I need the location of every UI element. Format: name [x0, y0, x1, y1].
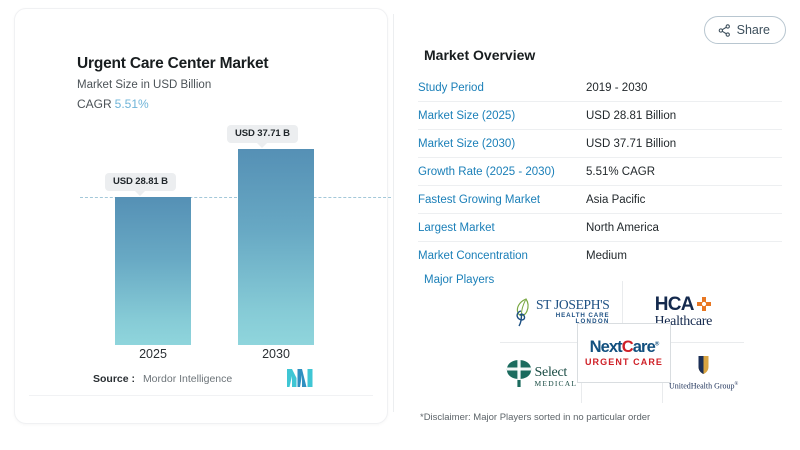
share-label: Share: [737, 23, 770, 37]
logo-cell-select-medical: Select MEDICAL: [500, 342, 581, 403]
unitedhealth-group-logo: UnitedHealth Group®: [669, 355, 738, 391]
cagr-label: CAGR: [77, 97, 112, 111]
nextcare-logo: NextCare® URGENT CARE: [585, 339, 663, 367]
major-players-logo-grid: ST JOSEPH'S HEALTH CARE LONDON HCA: [500, 281, 744, 403]
unitedhealth-name: UnitedHealth Group®: [669, 382, 738, 391]
bar-2030: [238, 149, 314, 345]
nextcare-sub: URGENT CARE: [585, 358, 663, 367]
x-tick-2025: 2025: [108, 347, 198, 361]
source-divider: [29, 395, 373, 396]
chart-subtitle: Market Size in USD Billion: [77, 79, 211, 91]
overview-table: Study Period 2019 - 2030 Market Size (20…: [418, 74, 782, 269]
source-line: Source : Mordor Intelligence: [93, 373, 232, 385]
select-medical-sub: MEDICAL: [535, 380, 578, 388]
overview-title: Market Overview: [424, 47, 535, 63]
x-tick-2030: 2030: [231, 347, 321, 361]
logo-cell-nextcare: NextCare® URGENT CARE: [577, 323, 671, 383]
row-value: 5.51% CAGR: [586, 166, 655, 178]
source-label: Source :: [93, 373, 135, 385]
select-medical-tree-icon: [504, 358, 534, 388]
table-row: Study Period 2019 - 2030: [418, 74, 782, 102]
bar-label-2025: USD 28.81 B: [105, 173, 176, 191]
bar-2025: [115, 197, 191, 345]
nextcare-name: NextCare®: [585, 339, 663, 356]
row-label: Market Size (2030): [418, 138, 586, 150]
share-icon: [718, 24, 731, 37]
chart-title: Urgent Care Center Market: [77, 55, 268, 73]
cagr-value: 5.51%: [115, 97, 149, 111]
logo-cell-unitedhealth: UnitedHealth Group®: [662, 342, 744, 403]
select-medical-name: Select: [535, 366, 578, 380]
bar-label-2030: USD 37.71 B: [227, 125, 298, 143]
row-value: Asia Pacific: [586, 194, 645, 206]
table-row: Market Size (2025) USD 28.81 Billion: [418, 102, 782, 130]
table-row: Fastest Growing Market Asia Pacific: [418, 186, 782, 214]
st-josephs-logo: ST JOSEPH'S HEALTH CARE LONDON: [512, 297, 610, 327]
market-snapshot-page: Urgent Care Center Market Market Size in…: [0, 0, 800, 450]
row-value: 2019 - 2030: [586, 82, 647, 94]
row-label: Largest Market: [418, 222, 586, 234]
row-value: North America: [586, 222, 659, 234]
table-row: Market Size (2030) USD 37.71 Billion: [418, 130, 782, 158]
table-row: Largest Market North America: [418, 214, 782, 242]
source-name: Mordor Intelligence: [143, 373, 232, 385]
chart-cagr: CAGR5.51%: [77, 97, 149, 111]
row-label: Fastest Growing Market: [418, 194, 586, 206]
share-button[interactable]: Share: [704, 16, 786, 44]
row-label: Market Concentration: [418, 250, 586, 262]
row-label: Growth Rate (2025 - 2030): [418, 166, 586, 178]
disclaimer-text: *Disclaimer: Major Players sorted in no …: [420, 412, 650, 423]
hca-name: HCA: [655, 295, 694, 314]
hca-cross-icon: [696, 296, 712, 312]
chart-x-axis: 2025 2030: [75, 347, 375, 367]
select-medical-logo: Select MEDICAL: [504, 358, 578, 388]
st-josephs-name: ST JOSEPH'S: [536, 298, 610, 312]
chart-card: Urgent Care Center Market Market Size in…: [14, 8, 388, 424]
row-value: Medium: [586, 250, 627, 262]
major-players-label: Major Players: [424, 274, 494, 286]
chart-plot-area: USD 28.81 B USD 37.71 B: [75, 127, 375, 345]
mordor-intelligence-logo: [287, 369, 313, 387]
row-value: USD 28.81 Billion: [586, 110, 676, 122]
unitedhealth-shield-icon: [697, 355, 710, 375]
st-josephs-leaf-icon: [512, 297, 534, 327]
row-label: Market Size (2025): [418, 110, 586, 122]
row-value: USD 37.71 Billion: [586, 138, 676, 150]
panel-divider: [393, 14, 394, 412]
table-row: Market Concentration Medium: [418, 242, 782, 269]
row-label: Study Period: [418, 82, 586, 94]
table-row: Growth Rate (2025 - 2030) 5.51% CAGR: [418, 158, 782, 186]
